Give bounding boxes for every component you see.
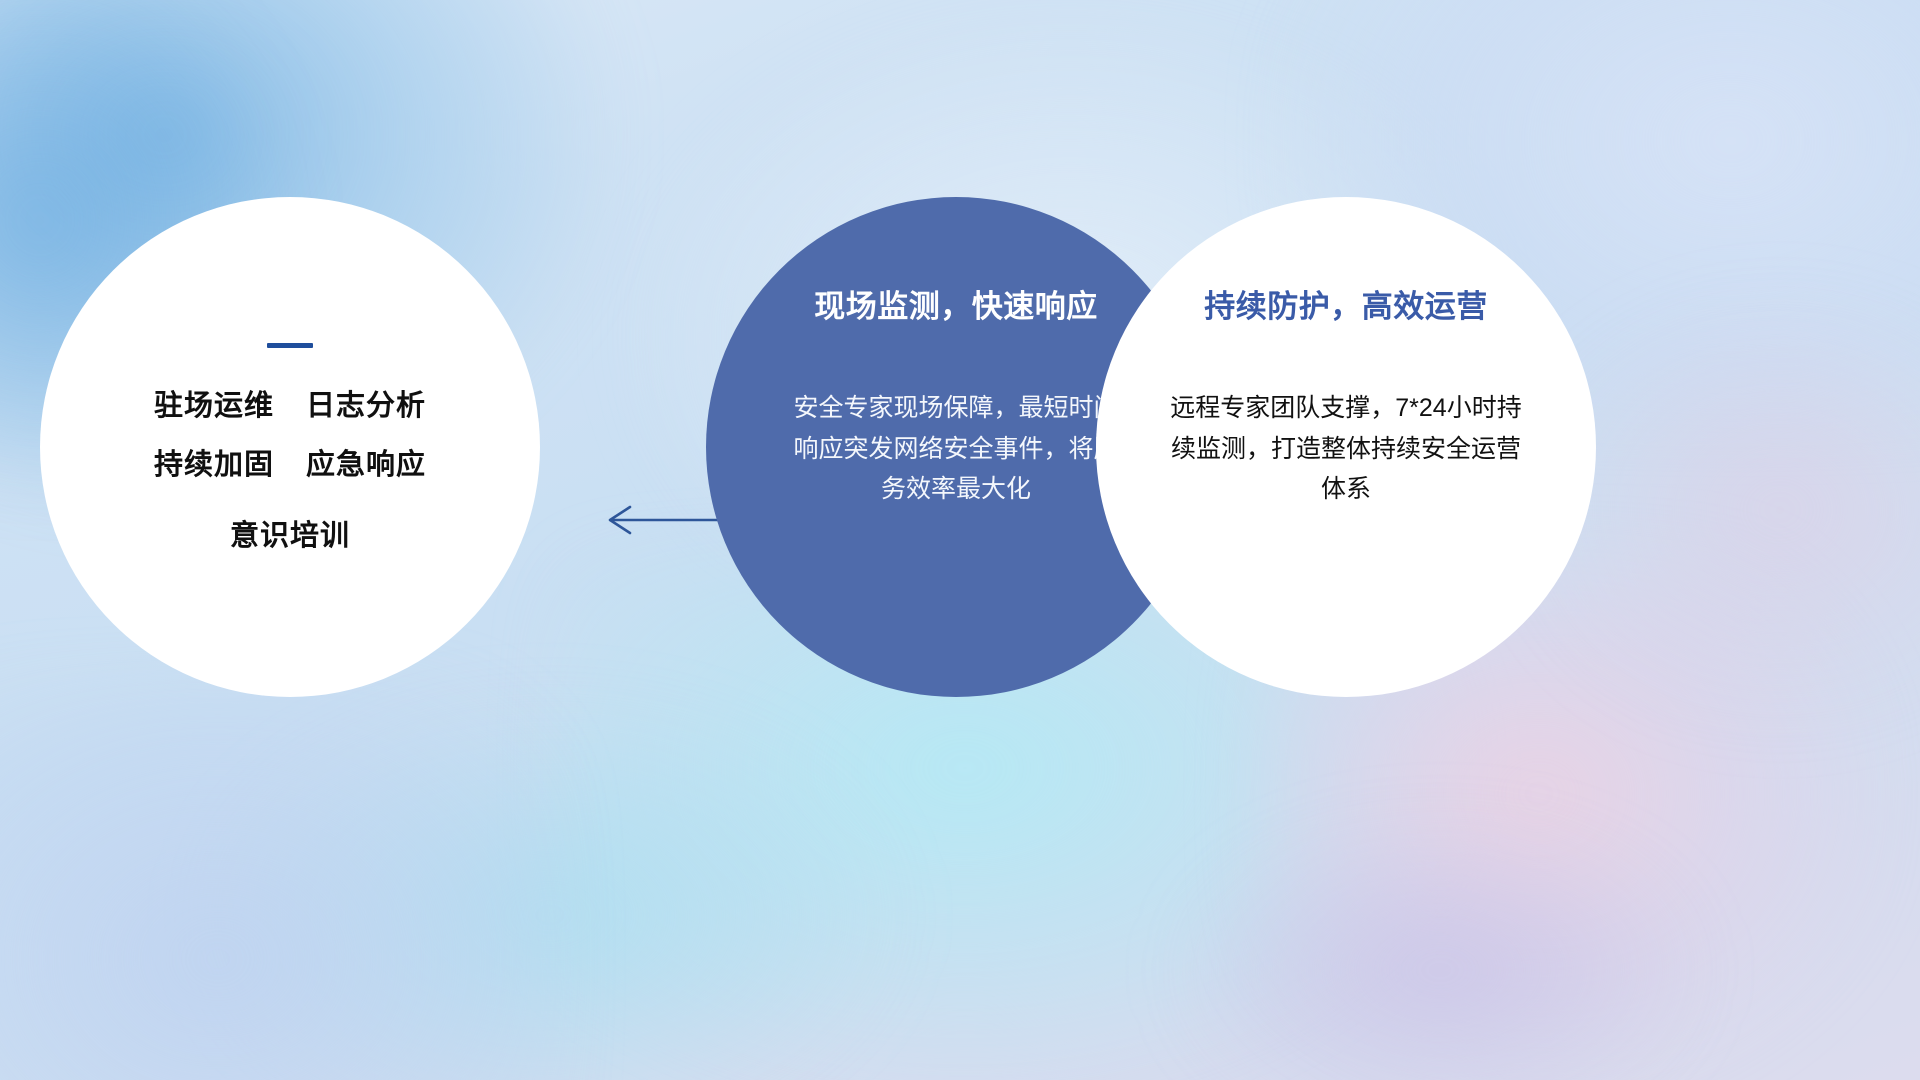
background-bottom-left-glow xyxy=(0,680,560,1080)
capabilities-circle: 驻场运维 日志分析 持续加固 应急响应 意识培训 xyxy=(40,197,540,697)
capability-tag: 日志分析 xyxy=(306,392,426,421)
onsite-monitoring-title: 现场监测，快速响应 xyxy=(814,281,1098,326)
continuous-protection-body: 远程专家团队支撑，7*24小时持续监测，打造整体持续安全运营体系 xyxy=(1161,388,1531,510)
capability-tag: 驻场运维 xyxy=(154,392,274,421)
divider-dash xyxy=(267,343,313,348)
capability-tag: 应急响应 xyxy=(306,451,426,480)
capability-tag: 持续加固 xyxy=(154,451,274,480)
capability-tag: 意识培训 xyxy=(230,522,350,551)
continuous-protection-circle: 持续防护，高效运营 远程专家团队支撑，7*24小时持续监测，打造整体持续安全运营… xyxy=(1096,197,1596,697)
onsite-monitoring-body: 安全专家现场保障，最短时间响应突发网络安全事件，将服务效率最大化 xyxy=(791,388,1121,510)
capability-row: 驻场运维 日志分析 xyxy=(154,392,426,421)
continuous-protection-title: 持续防护，高效运营 xyxy=(1204,281,1488,326)
capability-row: 意识培训 xyxy=(230,522,350,551)
background-lavender-glow xyxy=(1180,820,1700,1080)
capability-row: 持续加固 应急响应 xyxy=(154,451,426,480)
